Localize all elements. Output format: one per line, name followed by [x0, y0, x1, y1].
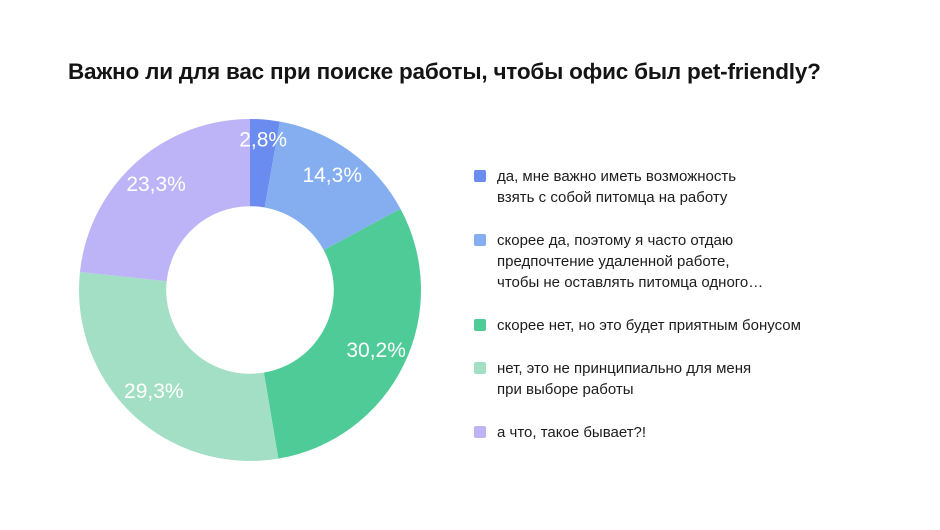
donut-chart: 2,8%14,3%30,2%29,3%23,3%: [78, 118, 422, 462]
legend-color-swatch: [474, 426, 486, 438]
slice-value-label: 2,8%: [239, 129, 287, 152]
slice-value-label: 23,3%: [126, 173, 186, 196]
slice-no-not-important[interactable]: [79, 272, 278, 461]
slice-what-really[interactable]: [80, 119, 250, 281]
slice-value-label: 30,2%: [346, 339, 406, 362]
slice-value-label: 29,3%: [124, 380, 184, 403]
legend-color-swatch: [474, 362, 486, 374]
legend-color-swatch: [474, 170, 486, 182]
legend-color-swatch: [474, 319, 486, 331]
legend-item[interactable]: да, мне важно иметь возможность взять с …: [474, 166, 904, 208]
slice-value-label: 14,3%: [302, 164, 362, 187]
legend-item[interactable]: скорее нет, но это будет приятным бонусо…: [474, 315, 904, 336]
legend-item-label: нет, это не принципиально для меня при в…: [497, 358, 751, 400]
legend-item-label: скорее да, поэтому я часто отдаю предпоч…: [497, 230, 763, 293]
legend-item-label: скорее нет, но это будет приятным бонусо…: [497, 315, 801, 336]
legend-item[interactable]: скорее да, поэтому я часто отдаю предпоч…: [474, 230, 904, 293]
chart-page: Важно ли для вас при поиске работы, чтоб…: [0, 0, 940, 530]
chart-legend: да, мне важно иметь возможность взять с …: [474, 166, 904, 443]
legend-color-swatch: [474, 234, 486, 246]
legend-item-label: а что, такое бывает?!: [497, 422, 646, 443]
legend-item-label: да, мне важно иметь возможность взять с …: [497, 166, 736, 208]
donut-chart-svg: 2,8%14,3%30,2%29,3%23,3%: [78, 118, 422, 462]
slice-rather-no-bonus[interactable]: [264, 209, 421, 459]
legend-item[interactable]: нет, это не принципиально для меня при в…: [474, 358, 904, 400]
page-title: Важно ли для вас при поиске работы, чтоб…: [68, 58, 898, 86]
legend-item[interactable]: а что, такое бывает?!: [474, 422, 904, 443]
donut-slice-layer: [79, 119, 421, 461]
